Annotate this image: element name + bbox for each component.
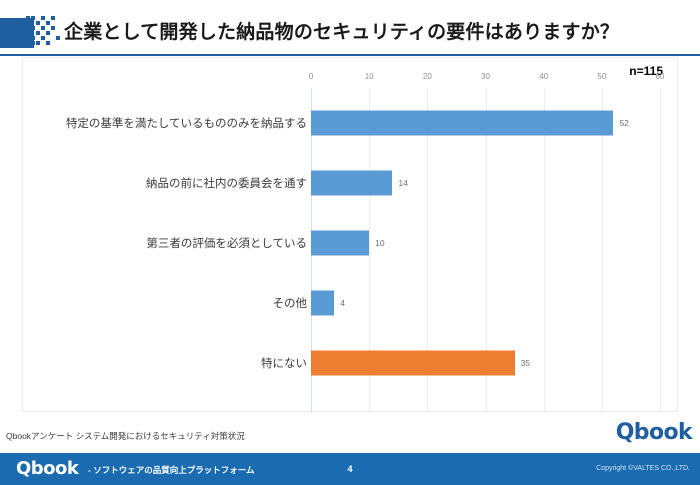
category-label: 納品の前に社内の委員会を通す [146,175,307,191]
bar-value-label: 52 [619,118,628,128]
chart-panel: n=115 0102030405060特定の基準を満たしているもののみを納品する… [22,57,678,412]
bar [311,351,515,376]
chart-row: 特定の基準を満たしているもののみを納品する52 [23,93,679,153]
x-axis-tick-label: 20 [423,72,432,81]
x-axis-tick-label: 10 [365,72,374,81]
bar [311,171,392,196]
slide-footer: Qbook - ソフトウェアの品質向上プラットフォーム 4 Copyright … [0,453,700,485]
bar-value-label: 10 [375,238,384,248]
header-divider [0,54,700,56]
bar-chart-plot: 0102030405060特定の基準を満たしているもののみを納品する52納品の前… [23,58,679,413]
x-axis-tick-label: 60 [656,72,665,81]
x-axis-tick-label: 50 [597,72,606,81]
qbook-logo: Qbook [616,420,692,445]
category-label: 特定の基準を満たしているもののみを納品する [66,115,307,131]
x-axis-tick-label: 40 [539,72,548,81]
slide-header: 企業として開発した納品物のセキュリティの要件はありますか？ [0,16,700,54]
category-label: 特にない [261,355,307,371]
category-label: その他 [273,295,308,311]
chart-source-caption: Qbookアンケート システム開発におけるセキュリティ対策状況 [6,430,245,442]
chart-row: 特にない35 [23,333,679,393]
pixel-dissolve-icon [26,16,62,50]
chart-row: 納品の前に社内の委員会を通す14 [23,153,679,213]
bar [311,111,613,136]
copyright-text: Copyright ©VALTES CO.,LTD. [596,465,690,472]
chart-row: その他4 [23,273,679,333]
chart-row: 第三者の評価を必須としている10 [23,213,679,273]
page-number: 4 [0,464,700,474]
bar-value-label: 4 [340,298,345,308]
x-axis-tick-label: 30 [481,72,490,81]
bar [311,291,334,316]
bar-value-label: 35 [521,358,530,368]
category-label: 第三者の評価を必須としている [146,235,307,251]
page-title: 企業として開発した納品物のセキュリティの要件はありますか？ [64,16,619,50]
x-axis-tick-label: 0 [309,72,313,81]
bar [311,231,369,256]
bar-value-label: 14 [398,178,407,188]
